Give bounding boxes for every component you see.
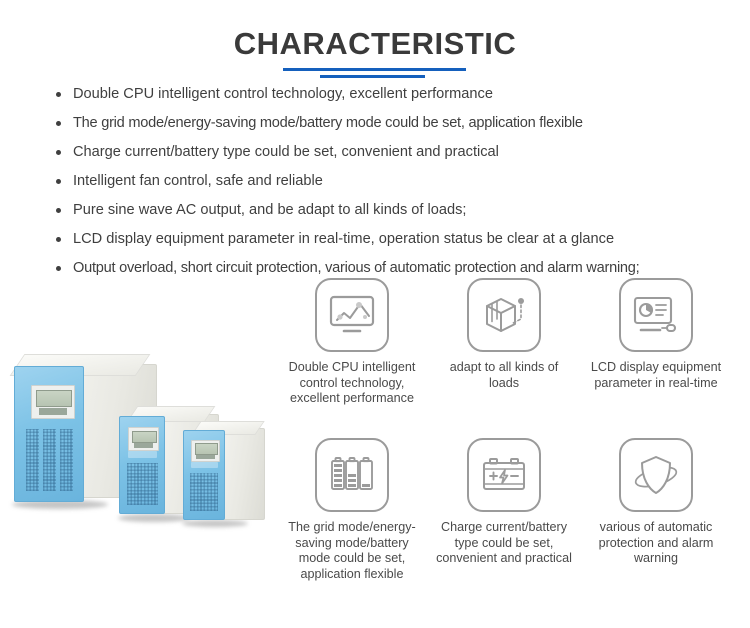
product-photo: [0, 352, 262, 544]
monitor-piechart-icon: [619, 278, 693, 352]
unit-brand-badge: [128, 451, 157, 458]
icon-caption: The grid mode/energy-saving mode/battery…: [276, 520, 428, 582]
unit-brand-badge: [191, 462, 218, 468]
icon-caption: adapt to all kinds of loads: [428, 360, 580, 391]
icon-card-battery-levels: The grid mode/energy-saving mode/battery…: [276, 438, 428, 582]
unit-lcd: [191, 440, 220, 462]
lcd-buttons: [134, 443, 154, 448]
battery-levels-icon: [315, 438, 389, 512]
feature-list-item: Pure sine wave AC output, and be adapt t…: [52, 202, 712, 219]
unit-vent: [26, 429, 39, 491]
bullet-icon: [56, 150, 61, 155]
icon-row: The grid mode/energy-saving mode/battery…: [276, 438, 746, 598]
unit-vent: [60, 429, 73, 491]
title-underline-long: [283, 68, 466, 71]
feature-text: Double CPU intelligent control technolog…: [73, 86, 493, 102]
monitor-chart-icon: [315, 278, 389, 352]
feature-text: Pure sine wave AC output, and be adapt t…: [73, 202, 466, 218]
bullet-icon: [56, 179, 61, 184]
page-title: CHARACTERISTIC: [0, 26, 750, 62]
icon-caption: Double CPU intelligent control technolog…: [276, 360, 428, 407]
feature-text: The grid mode/energy-saving mode/battery…: [73, 115, 583, 131]
bullet-icon: [56, 121, 61, 126]
lcd-buttons: [196, 455, 214, 459]
feature-list-item: Charge current/battery type could be set…: [52, 144, 712, 161]
bullet-icon: [56, 92, 61, 97]
unit-vent: [43, 429, 56, 491]
icon-card-monitor-piechart: LCD display equipment parameter in real-…: [580, 278, 732, 391]
feature-list-item: LCD display equipment parameter in real-…: [52, 231, 712, 248]
unit-lcd: [31, 385, 75, 419]
bullet-icon: [56, 237, 61, 242]
unit-shadow: [182, 520, 248, 527]
icon-caption: LCD display equipment parameter in real-…: [580, 360, 732, 391]
feature-text: Output overload, short circuit protectio…: [73, 260, 639, 276]
icon-card-package-box: adapt to all kinds of loads: [428, 278, 580, 391]
title-underline-short: [320, 75, 425, 78]
icon-card-monitor-chart: Double CPU intelligent control technolog…: [276, 278, 428, 407]
feature-list-item: Intelligent fan control, safe and reliab…: [52, 173, 712, 190]
feature-text: Intelligent fan control, safe and reliab…: [73, 173, 323, 189]
title-underline: [0, 68, 750, 80]
bullet-icon: [56, 266, 61, 271]
icon-card-car-battery: Charge current/battery type could be set…: [428, 438, 580, 567]
unit-front-panel: [119, 416, 165, 514]
car-battery-bolt-icon: [467, 438, 541, 512]
shield-orbit-icon: [619, 438, 693, 512]
icon-caption: various of automatic protection and alar…: [580, 520, 732, 567]
icon-caption: Charge current/battery type could be set…: [428, 520, 580, 567]
feature-list-item: The grid mode/energy-saving mode/battery…: [52, 115, 712, 132]
unit-lcd: [128, 427, 159, 451]
unit-front-panel: [183, 430, 225, 520]
unit-vent: [127, 463, 158, 505]
icon-grid: Double CPU intelligent control technolog…: [276, 278, 746, 598]
feature-text: Charge current/battery type could be set…: [73, 144, 499, 160]
package-box-icon: [467, 278, 541, 352]
lcd-screen: [132, 431, 157, 444]
unit-shadow: [118, 514, 190, 522]
feature-list-item: Double CPU intelligent control technolog…: [52, 86, 712, 103]
lcd-screen: [36, 390, 72, 407]
feature-text: LCD display equipment parameter in real-…: [73, 231, 614, 247]
icon-row: Double CPU intelligent control technolog…: [276, 278, 746, 438]
feature-list-item: Output overload, short circuit protectio…: [52, 260, 712, 277]
lcd-screen: [195, 443, 219, 455]
lcd-buttons: [39, 408, 68, 415]
unit-vent: [190, 473, 218, 511]
icon-card-shield-orbit: various of automatic protection and alar…: [580, 438, 732, 567]
feature-list: Double CPU intelligent control technolog…: [52, 86, 712, 289]
unit-front-panel: [14, 366, 84, 502]
bullet-icon: [56, 208, 61, 213]
